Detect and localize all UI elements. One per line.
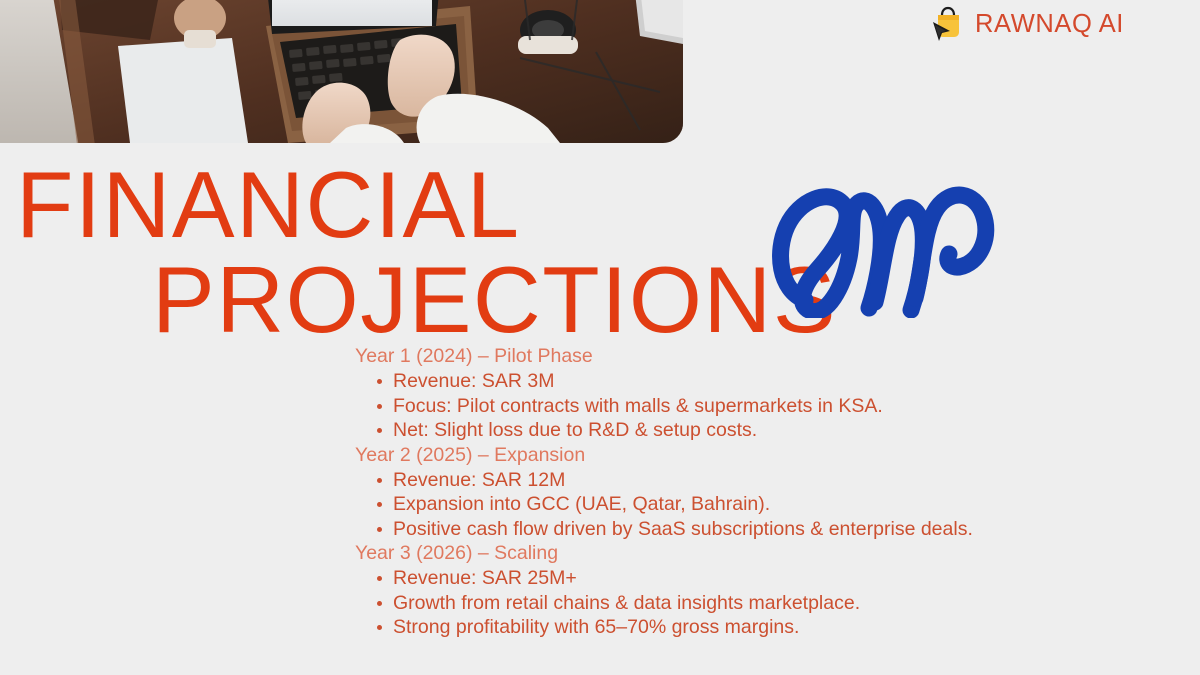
brand-name: RAWNAQ AI [975, 10, 1124, 39]
year-group: Year 3 (2026) – Scaling Revenue: SAR 25M… [355, 541, 1055, 640]
year-heading: Year 1 (2024) – Pilot Phase [355, 344, 1055, 369]
bullet-list: Revenue: SAR 12M Expansion into GCC (UAE… [355, 468, 1055, 542]
list-item: Positive cash flow driven by SaaS subscr… [375, 517, 1055, 542]
blue-scribble-icon [757, 178, 1003, 318]
list-item: Focus: Pilot contracts with malls & supe… [375, 394, 1055, 419]
list-item: Strong profitability with 65–70% gross m… [375, 615, 1055, 640]
bullet-list: Revenue: SAR 25M+ Growth from retail cha… [355, 566, 1055, 640]
list-item: Net: Slight loss due to R&D & setup cost… [375, 418, 1055, 443]
year-group: Year 2 (2025) – Expansion Revenue: SAR 1… [355, 443, 1055, 542]
bullet-list: Revenue: SAR 3M Focus: Pilot contracts w… [355, 369, 1055, 443]
laptop-typing-photo [0, 0, 683, 143]
year-heading: Year 3 (2026) – Scaling [355, 541, 1055, 566]
page-title-line-2: PROJECTIONS [0, 252, 700, 347]
shopping-bag-cursor-icon [930, 6, 964, 42]
list-item: Revenue: SAR 3M [375, 369, 1055, 394]
year-group: Year 1 (2024) – Pilot Phase Revenue: SAR… [355, 344, 1055, 443]
blue-scribble-graphic [757, 178, 1003, 318]
page-title-line-1: FINANCIAL [0, 157, 700, 252]
slide-canvas: RAWNAQ AI FINANCIAL PROJECTIONS Year 1 (… [0, 0, 1200, 675]
content-body: Year 1 (2024) – Pilot Phase Revenue: SAR… [355, 344, 1055, 640]
brand-lockup: RAWNAQ AI [930, 6, 1124, 42]
laptop-typing-photo-graphic [0, 0, 683, 143]
list-item: Revenue: SAR 25M+ [375, 566, 1055, 591]
year-heading: Year 2 (2025) – Expansion [355, 443, 1055, 468]
list-item: Expansion into GCC (UAE, Qatar, Bahrain)… [375, 492, 1055, 517]
page-title: FINANCIAL PROJECTIONS [0, 157, 700, 347]
list-item: Growth from retail chains & data insight… [375, 591, 1055, 616]
list-item: Revenue: SAR 12M [375, 468, 1055, 493]
